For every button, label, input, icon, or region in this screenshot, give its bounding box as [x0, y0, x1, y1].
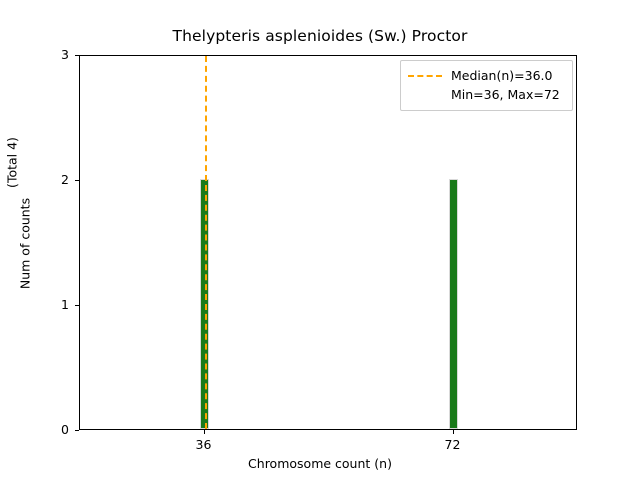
y-tick-0 [75, 430, 79, 431]
legend-label-median: Median(n)=36.0 [451, 68, 552, 83]
x-tick-36 [204, 430, 205, 434]
y-axis-label: Num of counts [18, 144, 33, 344]
chart-figure: Thelypteris asplenioides (Sw.) Proctor 3… [0, 0, 640, 480]
x-tick-label-36: 36 [164, 437, 244, 452]
y-axis-label-total: (Total 4) [5, 63, 20, 263]
chart-title: Thelypteris asplenioides (Sw.) Proctor [0, 27, 640, 45]
legend-label-minmax: Min=36, Max=72 [451, 87, 560, 102]
bar-72 [449, 179, 458, 429]
x-tick-label-72: 72 [413, 437, 493, 452]
x-tick-72 [453, 430, 454, 434]
dashed-line-icon [408, 75, 442, 77]
y-tick-2 [75, 180, 79, 181]
legend: Median(n)=36.0 Min=36, Max=72 [400, 60, 573, 111]
median-line [205, 56, 207, 429]
y-tick-label-0: 0 [25, 422, 69, 437]
y-tick-label-3: 3 [25, 47, 69, 62]
legend-entry-median: Median(n)=36.0 [408, 66, 565, 85]
x-axis-label: Chromosome count (n) [0, 456, 640, 471]
y-tick-1 [75, 305, 79, 306]
legend-entry-minmax: Min=36, Max=72 [408, 85, 565, 104]
y-tick-3 [75, 55, 79, 56]
plot-area [79, 55, 577, 430]
